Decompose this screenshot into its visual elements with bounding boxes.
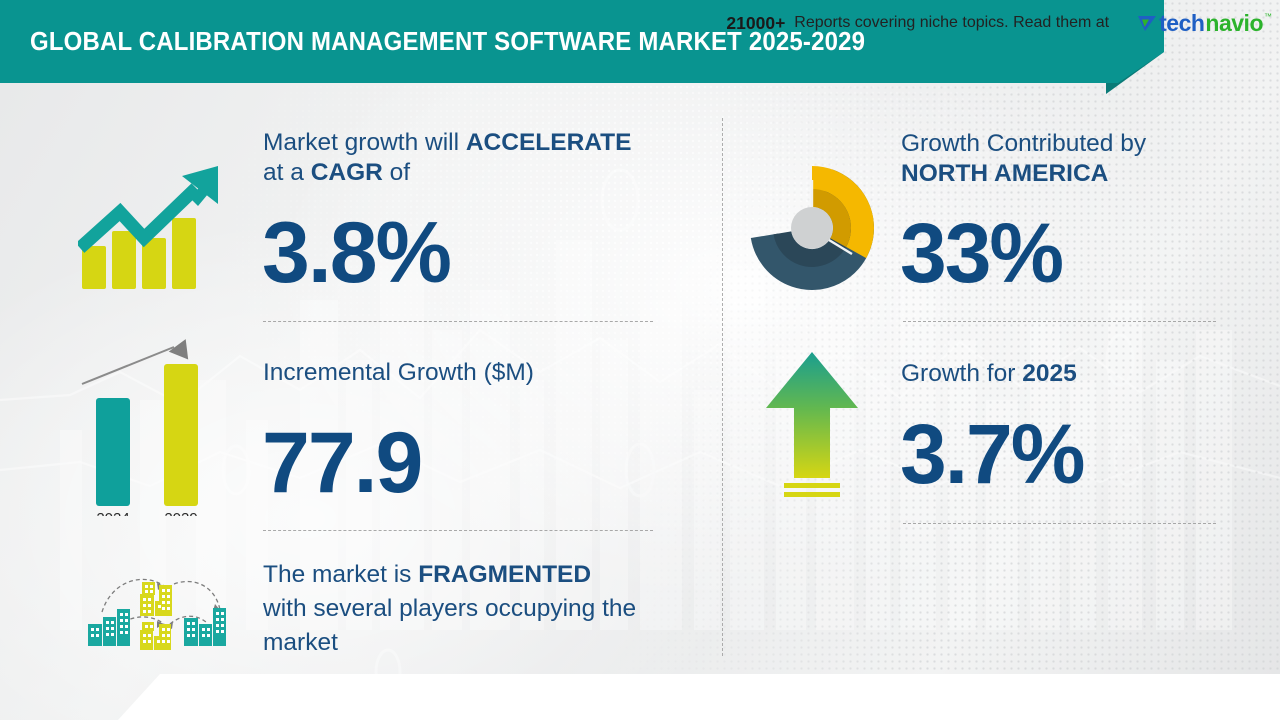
technavio-logo[interactable]: tech navio ™ <box>1136 9 1272 37</box>
footer-tagline: Reports covering niche topics. Read them… <box>794 14 1109 32</box>
bar-label-2024: 2024 <box>96 510 129 516</box>
region-caption-line1: Growth Contributed by <box>901 130 1146 157</box>
city-clusters-network-icon <box>78 560 238 652</box>
cagr-caption: Market growth will ACCELERATE at a CAGR … <box>263 128 663 188</box>
year-growth-label-pre: Growth for <box>901 360 1022 387</box>
technavio-triangle-icon <box>1136 12 1158 34</box>
cagr-caption-line2-pre: at a <box>263 159 311 186</box>
region-caption: Growth Contributed by NORTH AMERICA <box>901 129 1231 189</box>
technavio-logo-trademark: ™ <box>1264 12 1272 21</box>
fragmented-line2: with several players occupying the <box>263 595 636 622</box>
footer-band <box>0 674 1280 720</box>
column-divider <box>722 118 723 656</box>
cagr-value: 3.8% <box>262 210 450 296</box>
right-divider-1 <box>903 321 1216 322</box>
year-growth-label: Growth for 2025 <box>901 359 1231 389</box>
year-growth-value: 3.7% <box>900 412 1083 496</box>
footer-report-count: 21000+ <box>726 13 785 34</box>
up-arrow-gradient-icon <box>762 350 862 505</box>
incremental-growth-label: Incremental Growth ($M) <box>263 358 663 388</box>
footer-content: 21000+ Reports covering niche topics. Re… <box>726 0 1272 46</box>
cagr-caption-accelerate: ACCELERATE <box>466 129 632 156</box>
infographic-canvas: GLOBAL CALIBRATION MANAGEMENT SOFTWARE M… <box>0 0 1280 720</box>
fragmented-line3: market <box>263 629 338 656</box>
fragmented-line1-pre: The market is <box>263 561 418 588</box>
fragmented-caption: The market is FRAGMENTED with several pl… <box>263 558 683 660</box>
bar-label-2029: 2029 <box>164 510 197 516</box>
cagr-caption-cagr: CAGR <box>311 159 383 186</box>
technavio-logo-tech: tech <box>1159 10 1204 37</box>
fragmented-strong: FRAGMENTED <box>418 561 591 588</box>
year-growth-label-year: 2025 <box>1022 360 1077 387</box>
growth-bar-arrow-icon <box>78 158 228 293</box>
cagr-caption-line2-post: of <box>383 159 410 186</box>
incremental-growth-value: 77.9 <box>262 420 421 506</box>
region-share-value: 33% <box>900 211 1062 295</box>
technavio-logo-navio: navio <box>1205 10 1263 37</box>
two-bar-comparison-icon: 2024 2029 <box>70 336 230 516</box>
cagr-caption-line1-pre: Market growth will <box>263 129 466 156</box>
left-divider-2 <box>263 530 653 531</box>
right-divider-2 <box>903 523 1216 524</box>
left-divider-1 <box>263 321 653 322</box>
region-caption-north-america: NORTH AMERICA <box>901 160 1108 187</box>
donut-chart-icon <box>750 166 874 290</box>
